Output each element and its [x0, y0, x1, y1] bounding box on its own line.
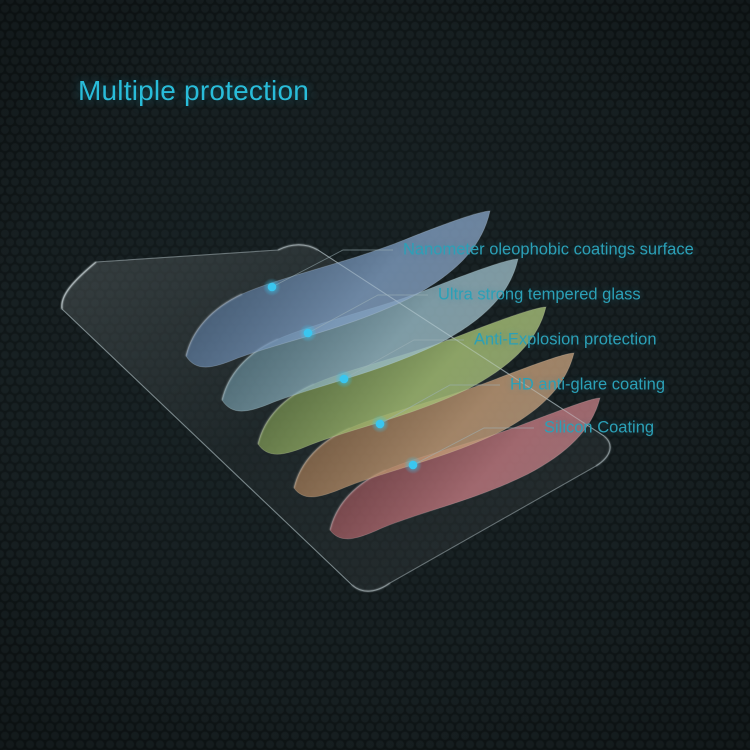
callout-label-layer-3: Anti-Explosion protection — [474, 331, 657, 350]
callout-label-layer-4: HD anti-glare coating — [510, 376, 665, 395]
callout-label-layer-1: Nanometer oleophobic coatings surface — [403, 241, 694, 260]
callout-label-layer-5: Silicon Coating — [544, 419, 654, 438]
marker-dot-2[interactable] — [304, 329, 313, 338]
page-title: Multiple protection — [78, 75, 309, 107]
marker-dot-1[interactable] — [268, 283, 277, 292]
marker-dot-5[interactable] — [409, 461, 418, 470]
product-illustration-page: Multiple protection Nanometer oleophobic… — [0, 0, 750, 750]
callout-label-layer-2: Ultra strong tempered glass — [438, 286, 641, 305]
marker-dot-4[interactable] — [376, 420, 385, 429]
marker-dot-3[interactable] — [340, 375, 349, 384]
